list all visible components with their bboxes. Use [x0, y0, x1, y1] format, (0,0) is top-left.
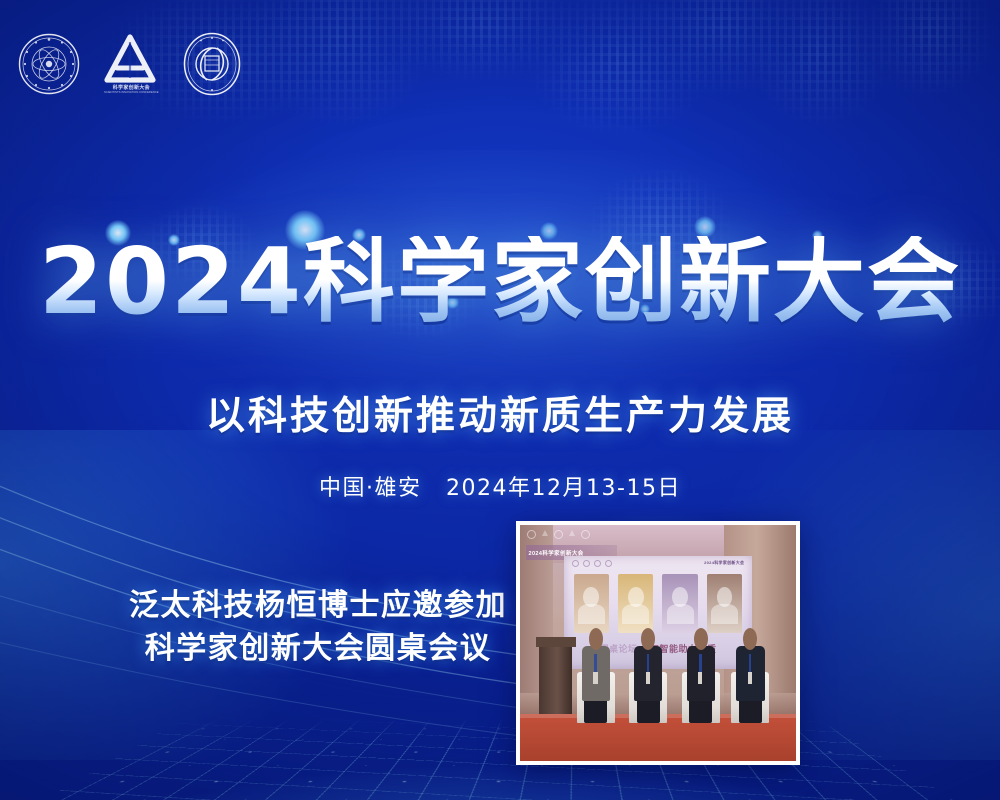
conference-poster: 科学家创新大会 SCIENTISTS INNOVATION CONFERENCE: [0, 0, 1000, 800]
scientists-innovation-conference-logo: 科学家创新大会 SCIENTISTS INNOVATION CONFERENCE: [104, 34, 159, 95]
event-caption-line-1: 泛太科技杨恒博士应邀参加: [118, 585, 518, 628]
event-photo-frame: 2024科学家创新大会 2024科学家创新大会 主持人 嘉宾 嘉宾: [516, 521, 800, 765]
photo-panel-participants: [520, 624, 796, 723]
event-photo: 2024科学家创新大会 2024科学家创新大会 主持人 嘉宾 嘉宾: [520, 525, 796, 761]
photo-participant: [680, 624, 721, 723]
academy-emblem-logo: [183, 32, 241, 96]
photo-participant: [730, 624, 771, 723]
photo-participant-badge: [593, 672, 597, 684]
photo-participant-lanyard: [699, 654, 701, 674]
photo-participant-badge: [698, 672, 702, 684]
photo-screen-header: 2024科学家创新大会: [704, 560, 744, 566]
cast-seal-logo: [18, 33, 80, 95]
event-dateline: 中国·雄安 2024年12月13-15日: [0, 470, 1000, 502]
page-title: 2024科学家创新大会: [0, 236, 1000, 328]
photo-participant-head: [694, 628, 708, 650]
event-date: 2024年12月13-15日: [446, 476, 681, 501]
conference-logo-caption-sub: SCIENTISTS INNOVATION CONFERENCE: [104, 91, 159, 94]
photo-participant-badge: [646, 672, 650, 684]
photo-participant: [575, 624, 616, 723]
poster-subtitle: 以科技创新推动新质生产力发展: [0, 385, 1000, 441]
event-caption-line-2: 科学家创新大会圆桌会议: [118, 628, 518, 671]
photo-top-icon-strip: [527, 530, 590, 539]
photo-participant-lanyard: [749, 654, 751, 674]
photo-participant-lanyard: [594, 654, 596, 674]
poster-title-block: 2024科学家创新大会: [0, 236, 1000, 328]
event-location: 中国·雄安: [319, 476, 422, 501]
photo-participant: [628, 624, 669, 723]
photo-screen-icon-strip: [572, 560, 612, 567]
photo-participant-badge: [748, 672, 752, 684]
photo-participant-lanyard: [647, 654, 649, 674]
event-caption: 泛太科技杨恒博士应邀参加 科学家创新大会圆桌会议: [118, 585, 518, 670]
photo-participant-head: [589, 628, 603, 650]
conference-logo-caption: 科学家创新大会 SCIENTISTS INNOVATION CONFERENCE: [104, 85, 159, 95]
organizer-logo-row: 科学家创新大会 SCIENTISTS INNOVATION CONFERENCE: [18, 32, 241, 96]
